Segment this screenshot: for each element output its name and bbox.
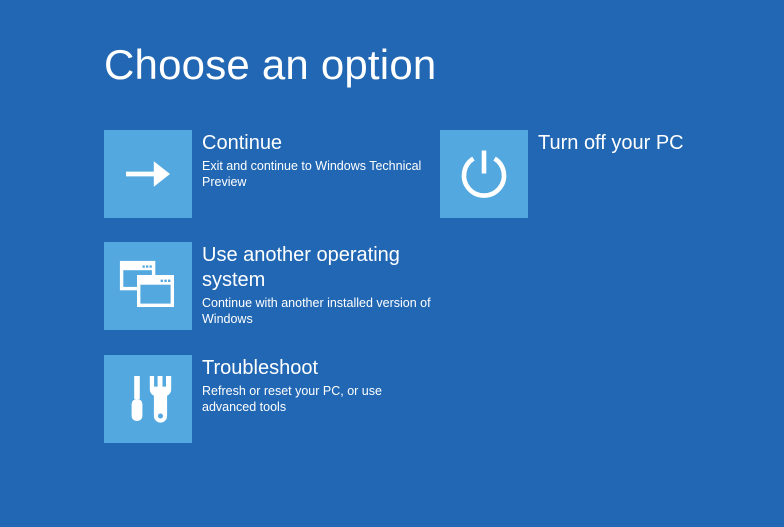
option-continue-heading: Continue xyxy=(202,131,434,156)
screwdriver-wrench-icon xyxy=(121,372,175,426)
two-windows-icon xyxy=(119,260,177,312)
option-turn-off-pc-heading: Turn off your PC xyxy=(538,131,770,156)
option-use-another-os-description: Continue with another installed version … xyxy=(202,295,434,327)
option-continue-text: Continue Exit and continue to Windows Te… xyxy=(202,130,434,190)
page-title: Choose an option xyxy=(104,38,436,92)
option-use-another-os-tile[interactable] xyxy=(104,242,192,330)
option-troubleshoot-tile[interactable] xyxy=(104,355,192,443)
option-continue-tile[interactable] xyxy=(104,130,192,218)
option-continue-description: Exit and continue to Windows Technical P… xyxy=(202,158,434,190)
option-turn-off-pc-text: Turn off your PC xyxy=(538,130,770,158)
power-icon xyxy=(457,147,511,201)
option-troubleshoot-text: Troubleshoot Refresh or reset your PC, o… xyxy=(202,355,434,415)
option-turn-off-pc[interactable]: Turn off your PC xyxy=(440,130,770,218)
option-troubleshoot-description: Refresh or reset your PC, or use advance… xyxy=(202,383,434,415)
option-use-another-os-text: Use another operating system Continue wi… xyxy=(202,242,434,327)
option-turn-off-pc-tile[interactable] xyxy=(440,130,528,218)
choose-an-option-screen: Choose an option Continue Exit and conti… xyxy=(0,0,784,527)
option-troubleshoot[interactable]: Troubleshoot Refresh or reset your PC, o… xyxy=(104,355,434,443)
option-use-another-os[interactable]: Use another operating system Continue wi… xyxy=(104,242,434,330)
option-troubleshoot-heading: Troubleshoot xyxy=(202,356,434,381)
option-continue[interactable]: Continue Exit and continue to Windows Te… xyxy=(104,130,434,218)
option-use-another-os-heading: Use another operating system xyxy=(202,243,434,293)
arrow-right-icon xyxy=(120,146,176,202)
